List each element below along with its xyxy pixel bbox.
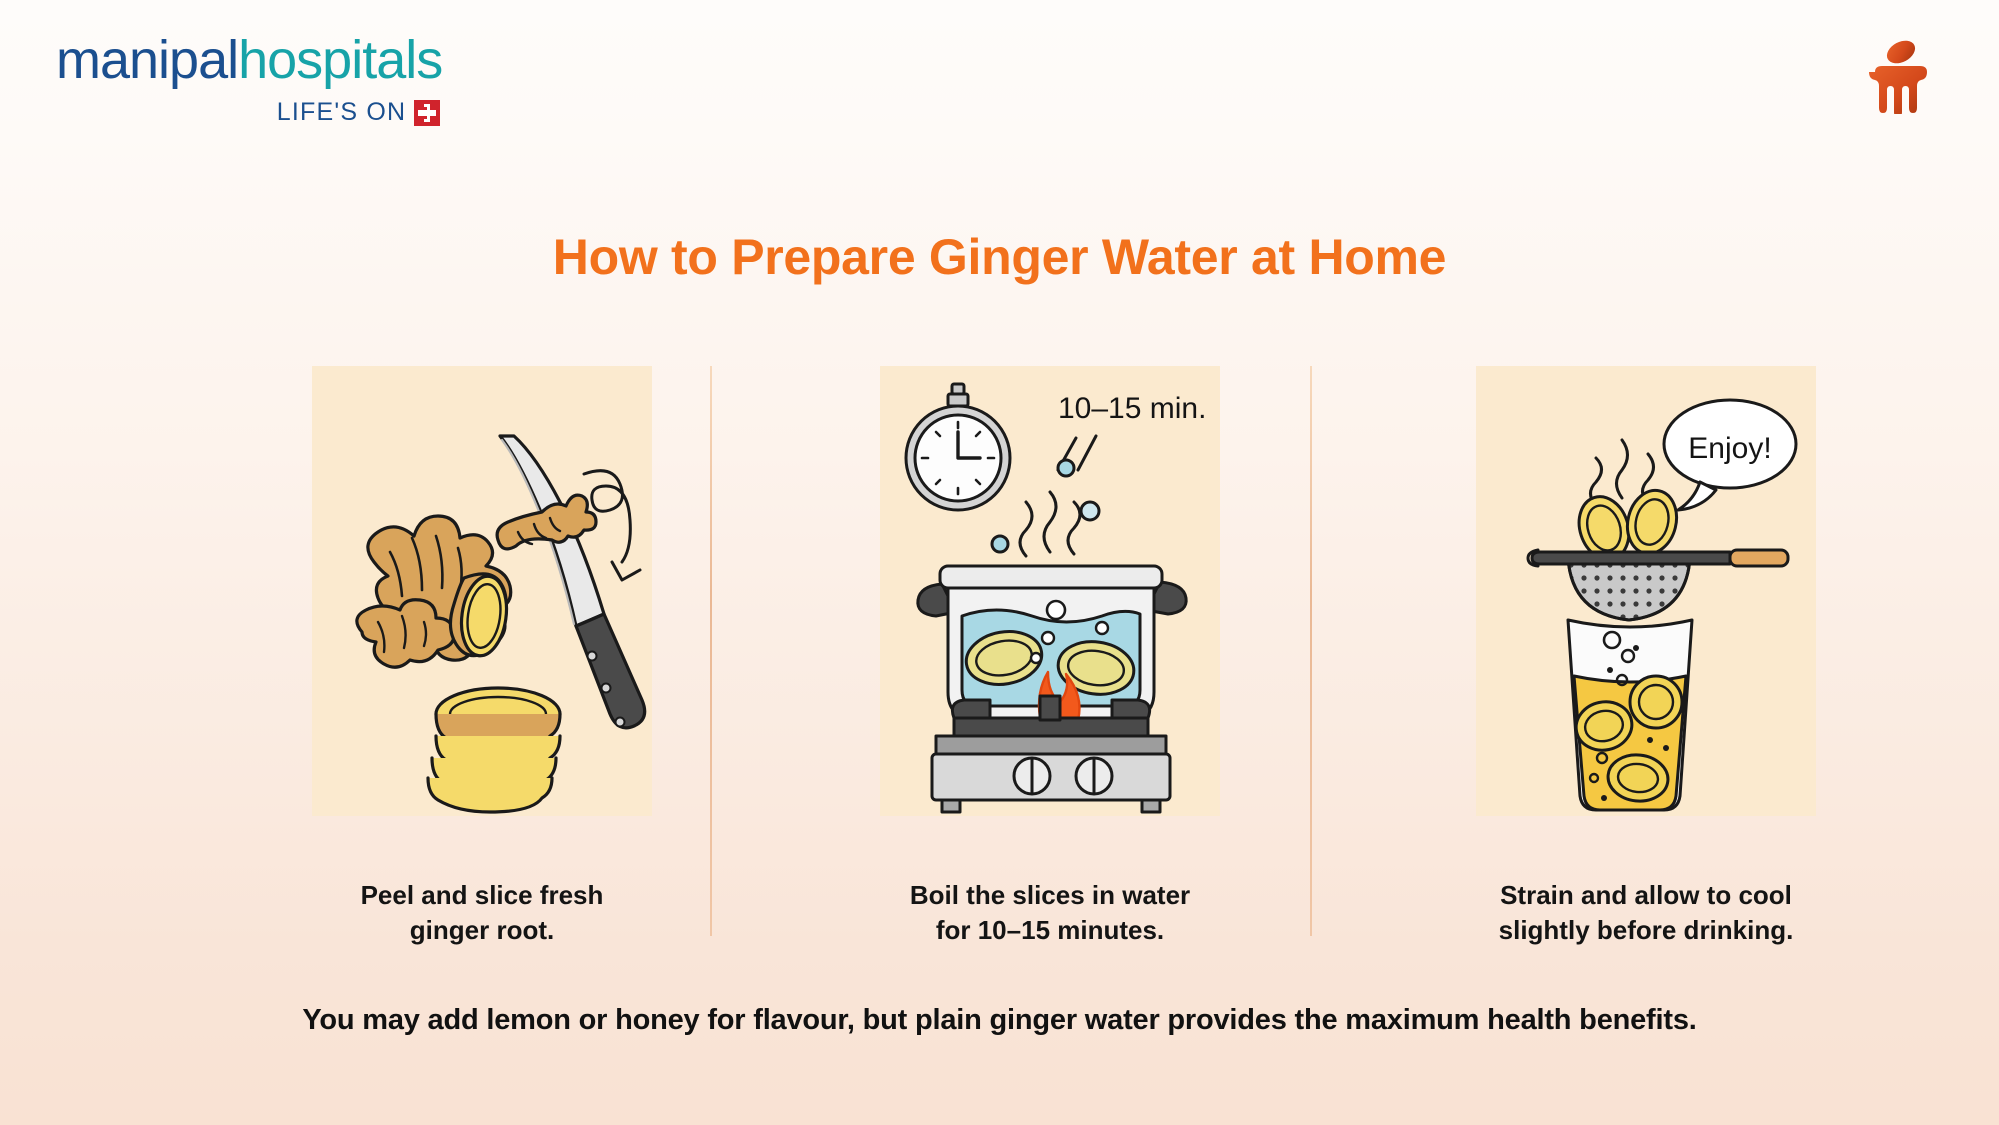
manipal-figure-mark-icon [1865,36,1937,114]
pot-boiling-on-stove-illustration: 10–15 min. [880,366,1220,816]
step-1: Peel and slice fresh ginger root. [262,366,702,947]
step-2-art-label: 10–15 min. [1058,392,1206,425]
step-2: 10–15 min. [830,366,1270,947]
step-1-caption-line-2: ginger root. [410,915,554,945]
step-2-caption: Boil the slices in water for 10–15 minut… [830,878,1270,947]
red-cross-badge-icon [414,100,440,126]
logo-tagline: LIFE'S ON [277,98,407,127]
steps-container: Peel and slice fresh ginger root. [0,366,1999,926]
strainer-over-glass-illustration: Enjoy! [1476,366,1816,816]
step-3: Enjoy! [1426,366,1866,947]
step-2-caption-line-2: for 10–15 minutes. [936,915,1164,945]
step-2-caption-line-1: Boil the slices in water [910,880,1190,910]
step-divider-2 [1310,366,1312,936]
step-3-caption-line-2: slightly before drinking. [1499,915,1794,945]
logo-word-manipal: manipal [56,30,238,90]
step-3-art-label: Enjoy! [1688,432,1771,465]
step-3-caption-line-1: Strain and allow to cool [1500,880,1792,910]
step-divider-1 [710,366,712,936]
ginger-root-knife-slices-illustration [312,366,652,816]
step-1-caption: Peel and slice fresh ginger root. [262,878,702,947]
footer-note: You may add lemon or honey for flavour, … [0,1004,1999,1037]
brand-logo[interactable]: manipalhospitals LIFE'S ON [56,33,442,127]
logo-word-hospitals: hospitals [238,30,442,90]
step-1-caption-line-1: Peel and slice fresh [361,880,604,910]
logo-wordmark: manipalhospitals [56,33,442,87]
page-title: How to Prepare Ginger Water at Home [0,228,1999,286]
step-3-caption: Strain and allow to cool slightly before… [1426,878,1866,947]
logo-tagline-row: LIFE'S ON [56,98,442,127]
